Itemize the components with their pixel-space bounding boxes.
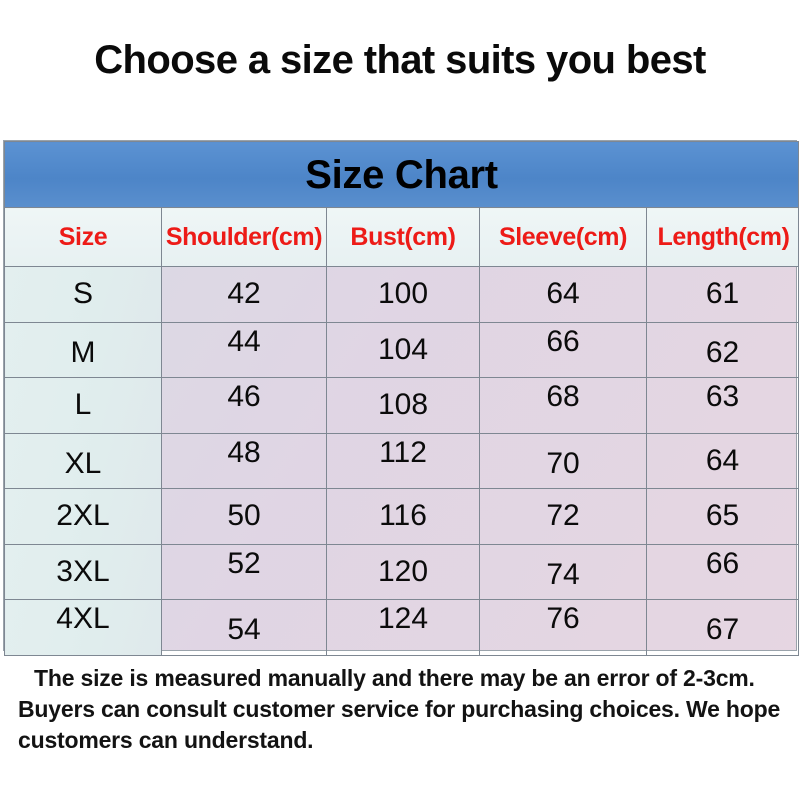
cell-sleeve: 70 bbox=[480, 433, 647, 489]
cell-shoulder-value: 44 bbox=[162, 325, 326, 359]
cell-size-value: S bbox=[5, 277, 161, 311]
cell-shoulder: 52 bbox=[162, 544, 327, 600]
size-chart-table: Size Chart Size Shoulder(cm) Bust(cm) Sl… bbox=[4, 141, 799, 656]
cell-length: 65 bbox=[647, 489, 799, 545]
cell-size: S bbox=[5, 267, 162, 323]
cell-shoulder-value: 42 bbox=[162, 277, 326, 311]
cell-shoulder-value: 54 bbox=[162, 613, 326, 647]
cell-length-value: 65 bbox=[647, 499, 798, 533]
cell-length: 63 bbox=[647, 378, 799, 434]
column-header-bust-label: Bust(cm) bbox=[327, 223, 479, 251]
cell-shoulder: 50 bbox=[162, 489, 327, 545]
cell-sleeve-value: 66 bbox=[480, 325, 646, 359]
table-row: 3XL 52 120 74 66 bbox=[5, 544, 799, 600]
cell-sleeve: 72 bbox=[480, 489, 647, 545]
cell-size: XL bbox=[5, 433, 162, 489]
cell-shoulder-value: 48 bbox=[162, 436, 326, 470]
column-header-length: Length(cm) bbox=[647, 208, 799, 267]
cell-shoulder-value: 46 bbox=[162, 380, 326, 414]
table-header-row: Size Shoulder(cm) Bust(cm) Sleeve(cm) Le… bbox=[5, 208, 799, 267]
cell-sleeve: 66 bbox=[480, 322, 647, 378]
cell-bust-value: 112 bbox=[327, 436, 479, 470]
table-row: 2XL 50 116 72 65 bbox=[5, 489, 799, 545]
cell-sleeve-value: 76 bbox=[480, 602, 646, 636]
cell-sleeve: 76 bbox=[480, 600, 647, 656]
cell-length-value: 63 bbox=[647, 380, 798, 414]
column-header-size: Size bbox=[5, 208, 162, 267]
cell-bust: 100 bbox=[327, 267, 480, 323]
cell-bust-value: 104 bbox=[327, 333, 479, 367]
cell-sleeve: 68 bbox=[480, 378, 647, 434]
table-row: L 46 108 68 63 bbox=[5, 378, 799, 434]
cell-bust: 120 bbox=[327, 544, 480, 600]
cell-shoulder: 48 bbox=[162, 433, 327, 489]
cell-shoulder: 46 bbox=[162, 378, 327, 434]
cell-sleeve-value: 74 bbox=[480, 558, 646, 592]
cell-bust-value: 124 bbox=[327, 602, 479, 636]
table-banner-row: Size Chart bbox=[5, 142, 799, 208]
size-chart-banner: Size Chart bbox=[5, 142, 799, 208]
column-header-shoulder: Shoulder(cm) bbox=[162, 208, 327, 267]
cell-length-value: 61 bbox=[647, 277, 798, 311]
cell-sleeve-value: 70 bbox=[480, 447, 646, 481]
cell-length: 61 bbox=[647, 267, 799, 323]
cell-length: 62 bbox=[647, 322, 799, 378]
column-header-sleeve-label: Sleeve(cm) bbox=[480, 223, 646, 251]
column-header-sleeve: Sleeve(cm) bbox=[480, 208, 647, 267]
cell-length-value: 67 bbox=[647, 613, 798, 647]
size-chart-page: Choose a size that suits you best Size C… bbox=[0, 0, 800, 800]
table-row: S 42 100 64 61 bbox=[5, 267, 799, 323]
measurement-disclaimer: The size is measured manually and there … bbox=[18, 663, 784, 756]
cell-bust-value: 120 bbox=[327, 555, 479, 589]
cell-bust: 124 bbox=[327, 600, 480, 656]
cell-sleeve-value: 68 bbox=[480, 380, 646, 414]
cell-size-value: XL bbox=[5, 447, 161, 481]
cell-size-value: L bbox=[5, 388, 161, 422]
cell-size: 2XL bbox=[5, 489, 162, 545]
cell-size: 4XL bbox=[5, 600, 162, 656]
cell-sleeve-value: 72 bbox=[480, 499, 646, 533]
column-header-length-label: Length(cm) bbox=[649, 223, 798, 251]
cell-shoulder: 54 bbox=[162, 600, 327, 656]
cell-size: M bbox=[5, 322, 162, 378]
table-row: XL 48 112 70 64 bbox=[5, 433, 799, 489]
cell-shoulder-value: 50 bbox=[162, 499, 326, 533]
cell-bust-value: 116 bbox=[327, 499, 479, 533]
cell-length-value: 64 bbox=[647, 444, 798, 478]
cell-length-value: 66 bbox=[647, 547, 798, 581]
page-title: Choose a size that suits you best bbox=[0, 36, 800, 84]
cell-bust: 112 bbox=[327, 433, 480, 489]
cell-bust: 108 bbox=[327, 378, 480, 434]
cell-length-value: 62 bbox=[647, 336, 798, 370]
cell-length: 64 bbox=[647, 433, 799, 489]
cell-sleeve: 64 bbox=[480, 267, 647, 323]
cell-bust: 104 bbox=[327, 322, 480, 378]
cell-size: 3XL bbox=[5, 544, 162, 600]
banner-title: Size Chart bbox=[5, 153, 798, 197]
table-row: M 44 104 66 62 bbox=[5, 322, 799, 378]
cell-bust: 116 bbox=[327, 489, 480, 545]
column-header-size-label: Size bbox=[5, 223, 161, 251]
cell-sleeve-value: 64 bbox=[480, 277, 646, 311]
cell-length: 67 bbox=[647, 600, 799, 656]
cell-bust-value: 108 bbox=[327, 388, 479, 422]
cell-bust-value: 100 bbox=[327, 277, 479, 311]
cell-shoulder: 42 bbox=[162, 267, 327, 323]
cell-size-value: 2XL bbox=[5, 499, 161, 533]
column-header-bust: Bust(cm) bbox=[327, 208, 480, 267]
cell-sleeve: 74 bbox=[480, 544, 647, 600]
cell-size-value: 3XL bbox=[5, 555, 161, 589]
cell-size: L bbox=[5, 378, 162, 434]
table-row: 4XL 54 124 76 67 bbox=[5, 600, 799, 656]
cell-shoulder-value: 52 bbox=[162, 547, 326, 581]
size-chart-table-container: Size Chart Size Shoulder(cm) Bust(cm) Sl… bbox=[3, 140, 797, 651]
column-header-shoulder-label: Shoulder(cm) bbox=[162, 223, 326, 251]
cell-shoulder: 44 bbox=[162, 322, 327, 378]
cell-size-value: 4XL bbox=[5, 602, 161, 636]
cell-size-value: M bbox=[5, 336, 161, 370]
cell-length: 66 bbox=[647, 544, 799, 600]
